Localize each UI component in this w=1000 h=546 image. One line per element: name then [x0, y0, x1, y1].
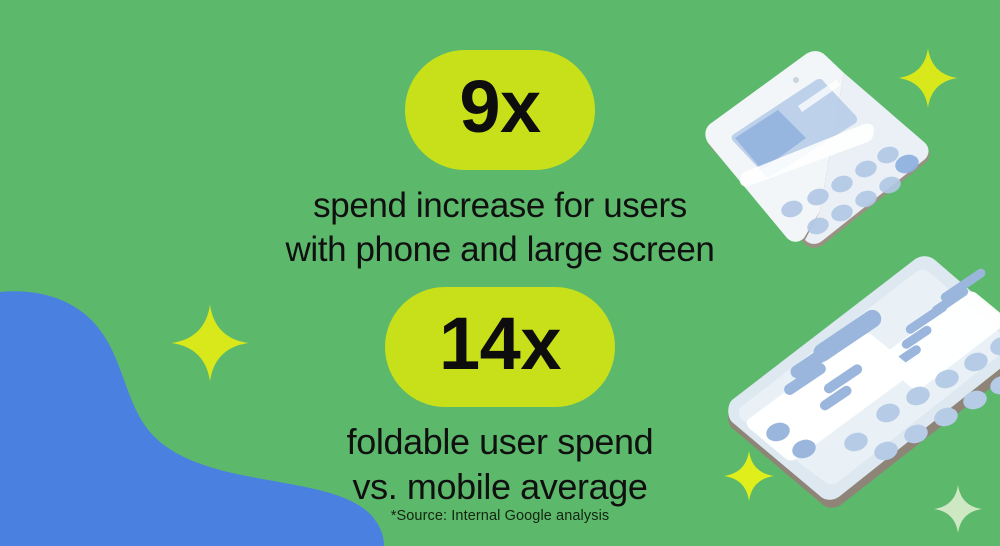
stat-caption-9x: spend increase for users with phone and …: [0, 184, 1000, 272]
content-column: 9x spend increase for users with phone a…: [0, 0, 1000, 546]
stat-caption-9x-line1: spend increase for users: [0, 184, 1000, 228]
source-note: *Source: Internal Google analysis: [0, 508, 1000, 524]
stat-block-14x: 14x foldable user spend vs. mobile avera…: [0, 287, 1000, 509]
infographic-slide: 9x spend increase for users with phone a…: [0, 0, 1000, 546]
stat-badge-9x: 9x: [405, 50, 594, 170]
stat-badge-14x: 14x: [385, 287, 615, 407]
stat-caption-14x-line2: vs. mobile average: [0, 464, 1000, 509]
stat-caption-14x-line1: foldable user spend: [0, 419, 1000, 464]
stat-caption-9x-line2: with phone and large screen: [0, 228, 1000, 272]
stat-caption-14x: foldable user spend vs. mobile average: [0, 419, 1000, 509]
stat-block-9x: 9x spend increase for users with phone a…: [0, 50, 1000, 272]
